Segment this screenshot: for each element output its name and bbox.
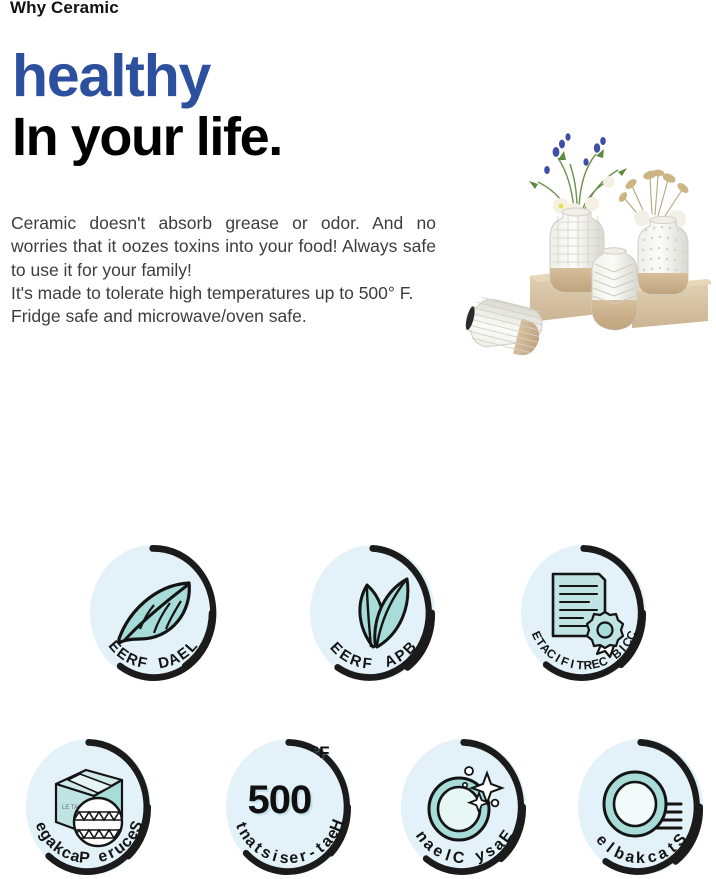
- temperature-value: 500: [248, 778, 312, 823]
- headline-block: healthy In your life.: [12, 48, 282, 165]
- sparkle-bowl-icon: [401, 739, 526, 875]
- body-copy: Ceramic doesn't absorb grease or odor. A…: [11, 212, 436, 328]
- badge-secure-package: LE TAUC Secure Package: [26, 739, 151, 875]
- badge-ccib-certificate: CCIB CERTIFICATE: [521, 545, 646, 681]
- temperature-unit: °F: [312, 743, 329, 763]
- feature-badges: LEAD FREE BPA FREE: [0, 523, 716, 879]
- temperature-text: 500 °F: [226, 739, 351, 875]
- badge-stackable: Stackable: [578, 739, 703, 875]
- two-leaves-icon: [310, 545, 435, 681]
- badge-lead-free: LEAD FREE: [90, 545, 215, 681]
- certificate-icon: [521, 545, 646, 681]
- body-paragraph-2: It's made to tolerate high temperatures …: [11, 282, 436, 329]
- badge-bpa-free: BPA FREE: [310, 545, 435, 681]
- section-kicker: Why Ceramic: [10, 0, 119, 18]
- product-infographic: Why Ceramic healthy In your life. Cerami…: [0, 0, 716, 879]
- headline-main: In your life.: [12, 110, 282, 165]
- headline-accent: healthy: [12, 48, 282, 106]
- stacked-plates-icon: [578, 739, 703, 875]
- badge-easy-clean: Easy Clean: [401, 739, 526, 875]
- body-paragraph-1: Ceramic doesn't absorb grease or odor. A…: [11, 212, 436, 282]
- package-box-icon: LE TAUC: [26, 739, 151, 875]
- leaf-icon: [90, 545, 215, 681]
- badge-heat-resistant: 500 °F Heat-resistant: [226, 739, 351, 875]
- product-photo: [446, 118, 711, 390]
